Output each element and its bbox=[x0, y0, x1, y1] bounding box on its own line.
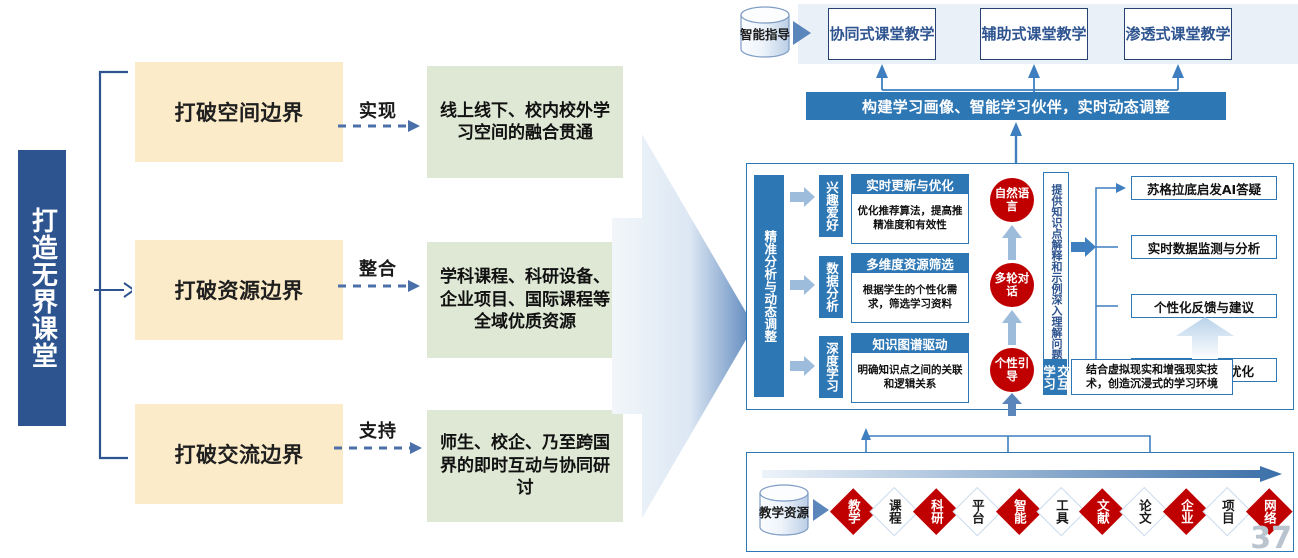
resource-diamond-label: 工具 bbox=[1054, 499, 1067, 524]
resource-cylinder-label: 教学资源 bbox=[758, 492, 810, 532]
banner-up-arrow-icon bbox=[1009, 120, 1023, 164]
track-card-3-title: 知识图谱驱动 bbox=[852, 334, 968, 353]
teaching-mode-box-3: 渗透式课堂教学 bbox=[1124, 8, 1232, 60]
page-title: 打造无界课堂 bbox=[18, 150, 66, 426]
track-card-1: 实时更新与优化 优化推荐算法，提高推精准度和有效性 bbox=[851, 174, 969, 244]
relation-label-3: 支持 bbox=[345, 418, 411, 442]
boundary-box-1: 打破空间边界 bbox=[135, 62, 343, 162]
track-card-1-title: 实时更新与优化 bbox=[852, 175, 968, 194]
resource-diamond-label: 课程 bbox=[888, 499, 901, 524]
relation-label-2: 整合 bbox=[345, 256, 411, 280]
resource-flow-arrow-icon bbox=[762, 466, 1282, 482]
circle-up-arrow-1-icon bbox=[1001, 224, 1023, 260]
dashed-arrow-1 bbox=[338, 118, 424, 140]
bracket-connector bbox=[94, 70, 132, 460]
panel-link-lines bbox=[860, 410, 1160, 454]
capability-circle-1: 自然语言 bbox=[990, 178, 1034, 222]
output-box-3: 个性化反馈与建议 bbox=[1131, 294, 1277, 318]
resource-diamond: 工具 bbox=[1038, 488, 1084, 534]
guide-arrow-icon bbox=[792, 20, 812, 46]
dashed-arrow-2 bbox=[338, 278, 424, 300]
resource-diamond-label: 智能 bbox=[1013, 499, 1026, 524]
resource-diamond-label: 文献 bbox=[1096, 499, 1109, 524]
output-box-2: 实时数据监测与分析 bbox=[1131, 235, 1277, 259]
outcome-box-3: 师生、校企、乃至跨国界的即时互动与协同研讨 bbox=[427, 410, 623, 522]
resource-diamond: 智能 bbox=[997, 488, 1043, 534]
track-card-2-title: 多维度资源筛选 bbox=[852, 254, 968, 273]
track-tag-1: 兴趣爱好 bbox=[819, 175, 843, 237]
resource-diamond: 项目 bbox=[1205, 488, 1251, 534]
capability-circle-2: 多轮对话 bbox=[990, 263, 1034, 307]
resource-diamond-label: 平台 bbox=[971, 499, 984, 524]
transition-arrow-icon bbox=[612, 126, 758, 526]
resource-diamond-row: 教学 课程 科研 平台 智能 工具 文献 论文 企业 项目 网络 bbox=[830, 486, 1292, 536]
track-card-3: 知识图谱驱动 明确知识点之间的关联和逻辑关系 bbox=[851, 333, 969, 403]
resource-diamond-label: 项目 bbox=[1221, 499, 1234, 524]
teaching-mode-box-1: 协同式课堂教学 bbox=[828, 8, 936, 60]
resource-diamond-label: 教学 bbox=[846, 499, 859, 524]
track-card-2-body: 根据学生的个性化需求，筛选学习资料 bbox=[852, 273, 968, 322]
boundary-box-2: 打破资源边界 bbox=[135, 240, 343, 340]
vr-up-arrow-icon bbox=[1172, 316, 1238, 360]
track-card-1-body: 优化推荐算法，提高推精准度和有效性 bbox=[852, 194, 968, 243]
track-tag-2: 数据分析 bbox=[819, 256, 843, 318]
outcome-box-2: 学科课程、科研设备、企业项目、国际课程等全域优质资源 bbox=[427, 242, 623, 358]
track-arrow-3-icon bbox=[790, 355, 816, 381]
teaching-mode-box-2: 辅助式课堂教学 bbox=[980, 8, 1088, 60]
track-tag-3: 深度学习 bbox=[819, 336, 843, 398]
provide-knowledge-bar: 提供知识点解释和示例深入理解问题 bbox=[1043, 172, 1069, 372]
outcome-box-1: 线上线下、校内校外学习空间的融合贯通 bbox=[427, 66, 623, 178]
resource-diamond: 论文 bbox=[1121, 488, 1167, 534]
capability-circle-3: 个性引导 bbox=[990, 348, 1034, 392]
resource-diamond-label: 论文 bbox=[1138, 499, 1151, 524]
resource-diamond-label: 网络 bbox=[1263, 499, 1276, 524]
resource-arrow-icon bbox=[812, 498, 830, 522]
track-arrow-1-icon bbox=[790, 186, 816, 212]
vr-tag: 交互学习 bbox=[1043, 359, 1067, 395]
output-box-1: 苏格拉底启发AI答疑 bbox=[1131, 176, 1277, 200]
resource-diamond-label: 企业 bbox=[1179, 499, 1192, 524]
precise-analysis-bar: 精准分析与动态调整 bbox=[754, 175, 784, 397]
resource-diamond: 平台 bbox=[955, 488, 1001, 534]
circle-up-arrow-2-icon bbox=[1001, 309, 1023, 345]
resource-diamond: 课程 bbox=[872, 488, 918, 534]
track-card-2: 多维度资源筛选 根据学生的个性化需求，筛选学习资料 bbox=[851, 253, 969, 323]
resource-diamond-label: 科研 bbox=[930, 499, 943, 524]
track-card-3-body: 明确知识点之间的关联和逻辑关系 bbox=[852, 353, 968, 402]
page-number: 37 bbox=[1250, 521, 1292, 556]
banner-strategy: 构建学习画像、智能学习伙伴，实时动态调整 bbox=[806, 92, 1226, 120]
vr-description: 结合虚拟现实和增强现实技术，创造沉浸式的学习环境 bbox=[1071, 359, 1233, 395]
mode-connector-lines bbox=[798, 56, 1298, 96]
dashed-arrow-3 bbox=[334, 440, 426, 462]
guide-cylinder-label: 智能指导 bbox=[739, 14, 791, 54]
boundary-box-3: 打破交流边界 bbox=[135, 404, 343, 504]
track-arrow-2-icon bbox=[790, 274, 816, 300]
